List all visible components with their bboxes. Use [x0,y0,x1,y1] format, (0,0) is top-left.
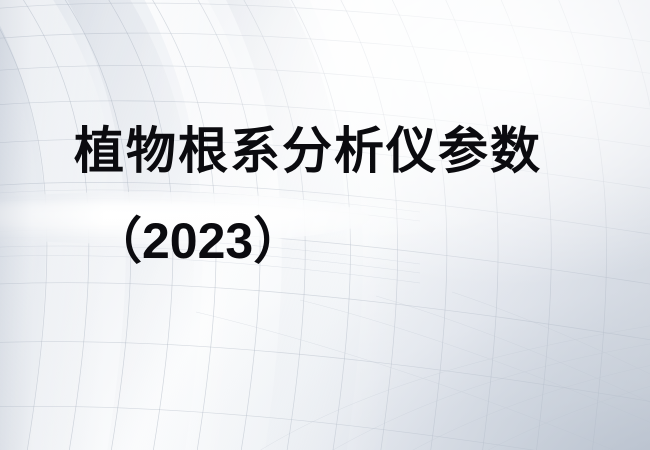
slide-canvas: 植物根系分析仪参数 （2023） [0,0,650,450]
page-title: 植物根系分析仪参数 [74,122,542,180]
title-block: 植物根系分析仪参数 （2023） [0,0,650,450]
page-subtitle-year: （2023） [92,212,303,270]
